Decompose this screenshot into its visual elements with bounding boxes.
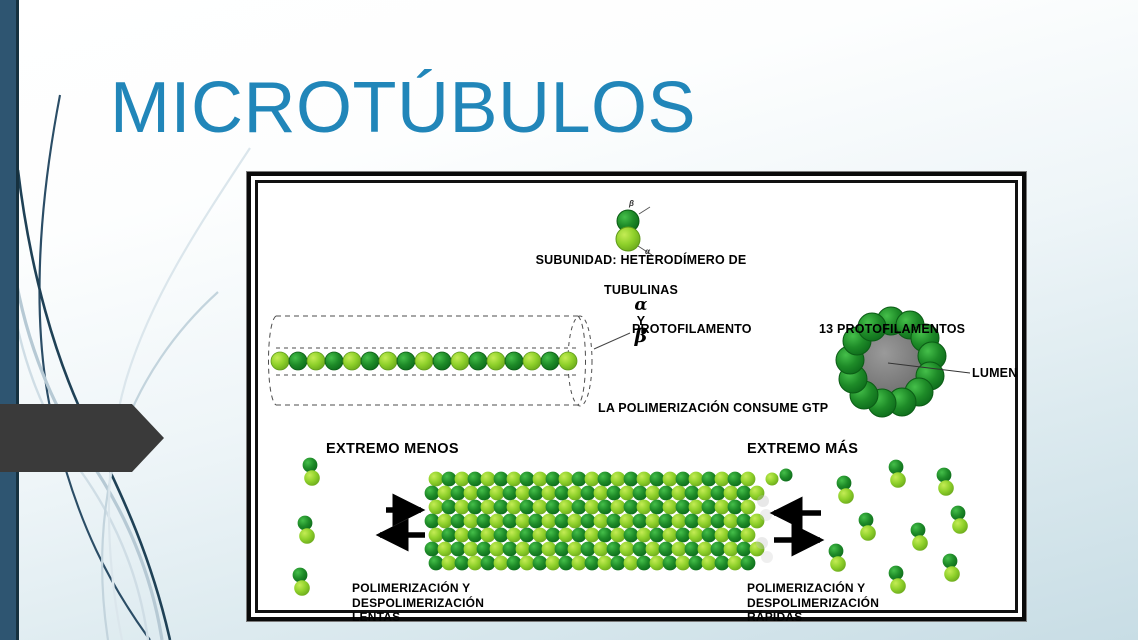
- protofilamentos-13-label: 13 PROTOFILAMENTOS: [819, 322, 965, 336]
- dimer-alpha-tag: α: [645, 247, 650, 256]
- caption-right: POLIMERIZACIÓN Y DESPOLIMERIZACIÓN RÁPID…: [747, 581, 879, 625]
- alpha-symbol: α: [634, 295, 647, 315]
- free-dimer-group-right: [829, 460, 968, 594]
- gtp-label: LA POLIMERIZACIÓN CONSUME GTP: [598, 401, 828, 415]
- left-accent-bar: [0, 0, 16, 640]
- arrow-group-left: [380, 510, 425, 535]
- plus-end-free-bead: [766, 473, 779, 486]
- subunit-caption-line1: SUBUNIDAD: HETERODÍMERO DE: [441, 253, 841, 268]
- caption-left: POLIMERIZACIÓN Y DESPOLIMERIZACIÓN LENTA…: [352, 581, 484, 625]
- swoosh-line-1: [40, 95, 150, 640]
- figure-frame: SUBUNIDAD: HETERODÍMERO DE TUBULINAS α Y…: [247, 172, 1026, 621]
- plus-end-free-bead: [780, 469, 793, 482]
- protofilamento-label: PROTOFILAMENTO: [632, 322, 752, 336]
- page-title: MICROTÚBULOS: [110, 72, 696, 144]
- slide-canvas: MICROTÚBULOS: [0, 0, 1138, 640]
- arrow-group-right: [774, 513, 821, 540]
- chevron-banner: [0, 404, 166, 472]
- protofilament-bead-chain: [271, 352, 577, 370]
- extremo-mas-label: EXTREMO MÁS: [747, 441, 858, 457]
- extremo-menos-label: EXTREMO MENOS: [326, 441, 459, 457]
- lumen-label: LUMEN: [972, 366, 1017, 380]
- left-accent-bar-edge: [16, 0, 19, 640]
- microtubule-lattice: [425, 469, 793, 571]
- dimer-beta-tag: β: [629, 199, 634, 208]
- figure-inner-border: SUBUNIDAD: HETERODÍMERO DE TUBULINAS α Y…: [255, 180, 1018, 613]
- free-dimer-group-left: [293, 458, 320, 596]
